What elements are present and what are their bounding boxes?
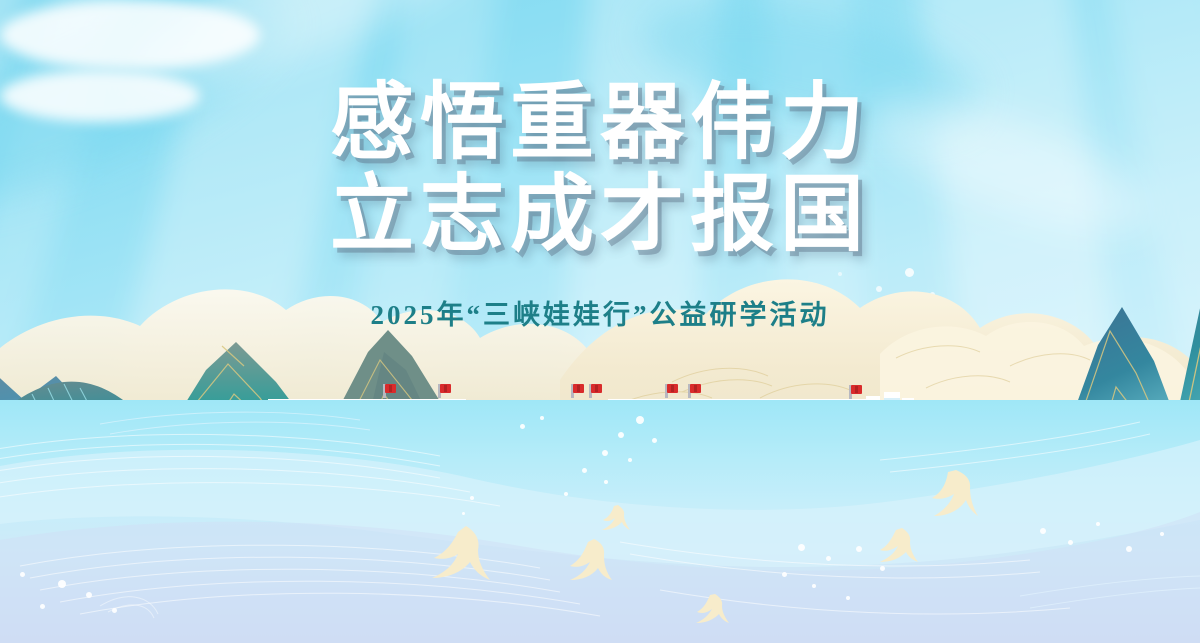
water-bubble — [1096, 522, 1100, 526]
water-bubble — [112, 608, 117, 613]
water-bubble — [1040, 528, 1046, 534]
water-bubble — [880, 566, 885, 571]
water-bubble — [86, 592, 92, 598]
water-bubble — [520, 424, 525, 429]
water-bubble — [846, 596, 850, 600]
swallow-bird — [872, 526, 924, 566]
swallow-bird — [690, 592, 734, 626]
water-bubble — [1068, 540, 1073, 545]
water-bubble — [604, 480, 608, 484]
headline-line-2: 立志成才报国 — [0, 168, 1200, 260]
water-bubble — [618, 432, 624, 438]
swallow-bird — [598, 504, 634, 532]
water-bubble — [652, 438, 657, 443]
water-bubble — [462, 512, 465, 515]
water-bubble — [798, 544, 805, 551]
water-bubble — [856, 546, 862, 552]
water-bubble — [58, 580, 66, 588]
headline-line-1: 感悟重器伟力 — [0, 76, 1200, 168]
water-bubble — [602, 450, 608, 456]
water-bubble — [40, 604, 45, 609]
water-bubble — [564, 492, 568, 496]
water-bubble — [636, 416, 644, 424]
water-bubble — [470, 496, 474, 500]
water-bubble — [1126, 546, 1132, 552]
water-bubble — [826, 556, 831, 561]
water-bubble — [628, 458, 632, 462]
event-subtitle: 2025年“三峡娃娃行”公益研学活动 — [0, 293, 1200, 332]
swallow-bird — [920, 468, 982, 520]
swallow-bird — [418, 524, 508, 586]
water-bubble — [540, 416, 544, 420]
water-bubble — [582, 468, 587, 473]
water-bubble — [782, 572, 787, 577]
swallow-bird — [560, 538, 618, 584]
poster-canvas: 感悟重器伟力 立志成才报国 2025年“三峡娃娃行”公益研学活动 — [0, 0, 1200, 643]
water-bubble — [812, 584, 816, 588]
water-bubble — [20, 572, 25, 577]
water-bubble — [1160, 532, 1164, 536]
